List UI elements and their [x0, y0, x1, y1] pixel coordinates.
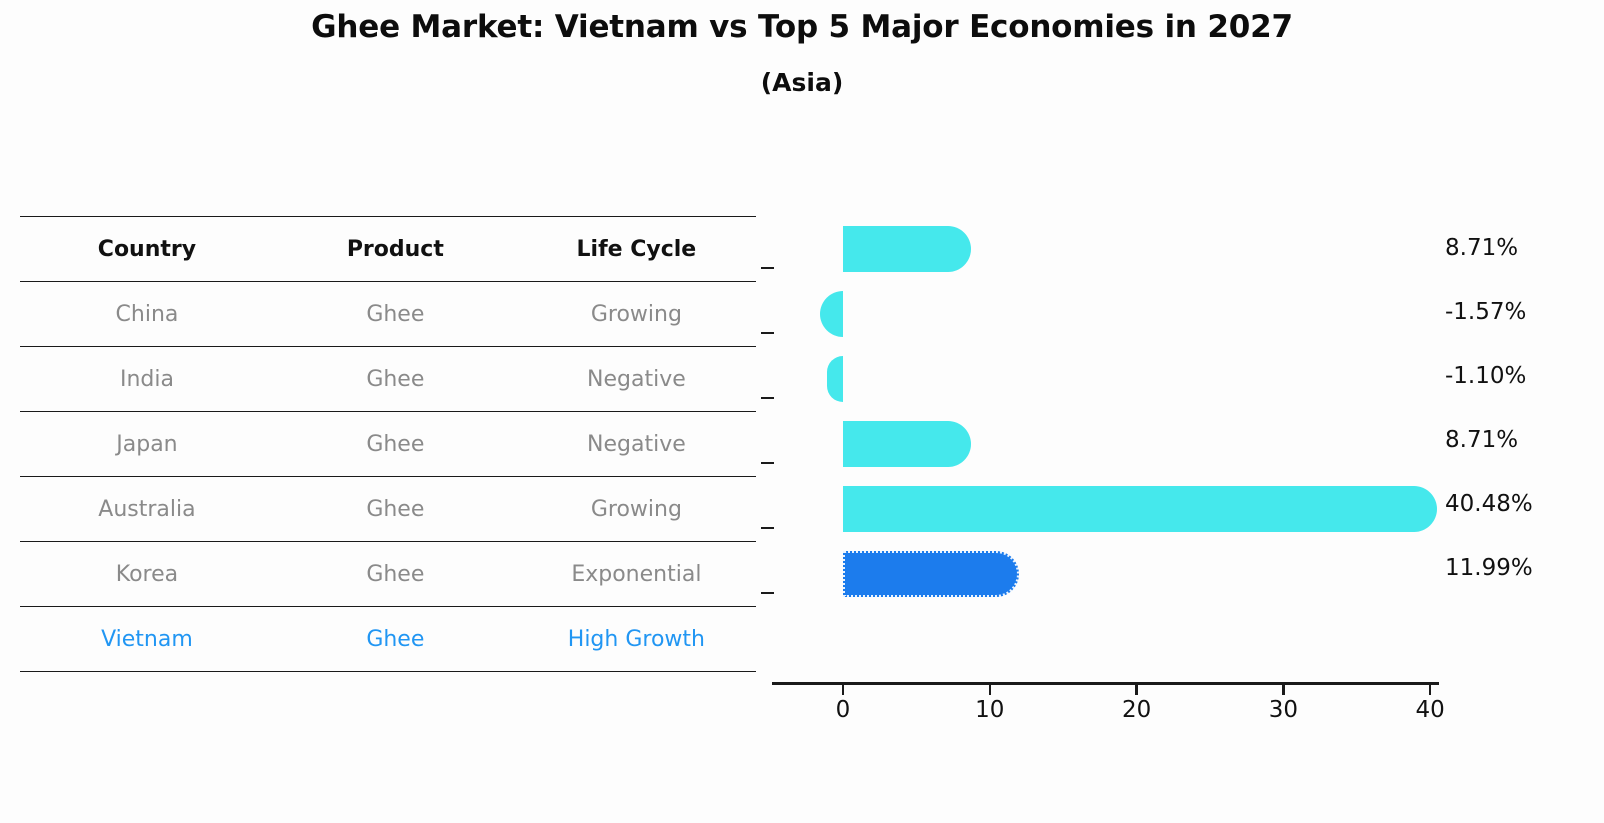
value-label-china: 8.71% [1445, 235, 1518, 261]
value-label-japan: -1.10% [1445, 363, 1526, 389]
country-table-panel: Country Product Life Cycle ChinaGheeGrow… [20, 216, 756, 672]
cell-life-cycle: Exponential [517, 542, 756, 607]
row-divider-tick [761, 592, 774, 594]
cell-product: Ghee [274, 477, 517, 542]
table-footer [20, 672, 756, 673]
cell-country: India [20, 347, 274, 412]
title-block: Ghee Market: Vietnam vs Top 5 Major Econ… [0, 10, 1604, 97]
bar-row [772, 216, 1444, 281]
row-divider-tick [761, 397, 774, 399]
table-footer-cell [517, 672, 756, 673]
cell-life-cycle: High Growth [517, 607, 756, 672]
x-axis-label-10: 10 [975, 697, 1004, 723]
bar-chart-plot-area [772, 216, 1444, 676]
x-axis-label-30: 30 [1269, 697, 1298, 723]
cell-product: Ghee [274, 347, 517, 412]
table-header-row: Country Product Life Cycle [20, 217, 756, 282]
column-header-country: Country [20, 217, 274, 282]
x-axis-tick-30 [1282, 682, 1284, 695]
bar-row [772, 476, 1444, 541]
bar-row [772, 281, 1444, 346]
value-label-australia: 8.71% [1445, 427, 1518, 453]
bar-china[interactable] [843, 226, 971, 272]
x-axis-label-20: 20 [1122, 697, 1151, 723]
table-footer-row [20, 672, 756, 673]
x-axis-label-40: 40 [1416, 697, 1445, 723]
bar-japan[interactable] [827, 356, 843, 402]
cell-country: Japan [20, 412, 274, 477]
row-divider-tick [761, 462, 774, 464]
bar-india[interactable] [820, 291, 843, 337]
table-row: KoreaGheeExponential [20, 542, 756, 607]
cell-product: Ghee [274, 282, 517, 347]
cell-life-cycle: Negative [517, 347, 756, 412]
table-footer-cell [20, 672, 274, 673]
table-row: ChinaGheeGrowing [20, 282, 756, 347]
cell-life-cycle: Growing [517, 477, 756, 542]
bar-australia[interactable] [843, 421, 971, 467]
cell-country: Vietnam [20, 607, 274, 672]
value-label-india: -1.57% [1445, 299, 1526, 325]
page-title: Ghee Market: Vietnam vs Top 5 Major Econ… [0, 10, 1604, 46]
x-axis-line [772, 682, 1439, 685]
cell-life-cycle: Growing [517, 282, 756, 347]
table-row: VietnamGheeHigh Growth [20, 607, 756, 672]
value-label-vietnam: 11.99% [1445, 555, 1533, 581]
bar-vietnam[interactable] [843, 551, 1019, 597]
cell-product: Ghee [274, 412, 517, 477]
x-axis-tick-10 [989, 682, 991, 695]
bar-korea[interactable] [843, 486, 1437, 532]
x-axis-tick-20 [1135, 682, 1137, 695]
country-table: Country Product Life Cycle ChinaGheeGrow… [20, 216, 756, 672]
table-row: JapanGheeNegative [20, 412, 756, 477]
x-axis-tick-0 [842, 682, 844, 695]
table-row: IndiaGheeNegative [20, 347, 756, 412]
bar-row [772, 346, 1444, 411]
table-body: ChinaGheeGrowingIndiaGheeNegativeJapanGh… [20, 282, 756, 672]
cell-product: Ghee [274, 542, 517, 607]
row-divider-tick [761, 527, 774, 529]
x-axis-tick-40 [1429, 682, 1431, 695]
table-row: AustraliaGheeGrowing [20, 477, 756, 542]
table-footer-cell [274, 672, 517, 673]
value-label-korea: 40.48% [1445, 491, 1533, 517]
bar-row [772, 411, 1444, 476]
row-divider-tick [761, 267, 774, 269]
column-header-life-cycle: Life Cycle [517, 217, 756, 282]
column-header-product: Product [274, 217, 517, 282]
cell-country: Korea [20, 542, 274, 607]
bar-row [772, 541, 1444, 606]
row-divider-tick [761, 332, 774, 334]
x-axis-label-0: 0 [836, 697, 851, 723]
table-header: Country Product Life Cycle [20, 217, 756, 282]
page-subtitle: (Asia) [0, 68, 1604, 97]
cell-product: Ghee [274, 607, 517, 672]
cell-life-cycle: Negative [517, 412, 756, 477]
cell-country: Australia [20, 477, 274, 542]
cell-country: China [20, 282, 274, 347]
